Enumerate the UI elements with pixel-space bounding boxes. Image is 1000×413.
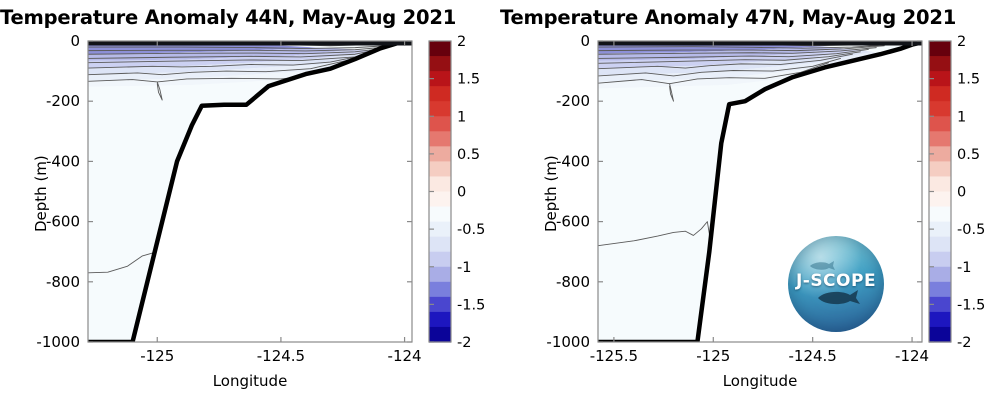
colorbar-swatch-11 [929, 207, 951, 223]
colorbar-swatch-11 [429, 207, 451, 223]
colorbar-swatch-3 [429, 86, 451, 102]
ytick-label: -800 [46, 273, 80, 291]
ytick-label: -600 [46, 213, 80, 231]
colorbar-swatch-8 [429, 161, 451, 177]
ytick-label: 0 [580, 32, 590, 50]
colorbar-swatch-19 [429, 327, 451, 343]
ytick-label: -200 [46, 92, 80, 110]
colorbar-swatch-15 [429, 267, 451, 283]
colorbar-swatch-18 [429, 312, 451, 328]
surface-band [88, 41, 412, 46]
ytick-label: 0 [70, 32, 80, 50]
colorbar-tick-label: 2 [957, 34, 966, 50]
colorbar-swatch-9 [929, 176, 951, 192]
panel-right-xlabel: Longitude [598, 372, 922, 390]
xtick-label: -124 [895, 347, 929, 365]
jscope-logo: J-SCOPE [788, 236, 884, 332]
colorbar-swatch-19 [929, 327, 951, 343]
colorbar-swatch-6 [929, 131, 951, 147]
ytick-label: -400 [46, 152, 80, 170]
colorbar-swatch-0 [429, 41, 451, 57]
colorbar-swatch-1 [429, 56, 451, 72]
colorbar-swatch-8 [929, 161, 951, 177]
colorbar-swatch-0 [929, 41, 951, 57]
fish-icon [788, 236, 884, 332]
xtick-label: -125 [696, 347, 730, 365]
xtick-label: -125 [140, 347, 174, 365]
colorbar-tick-label: -1.5 [457, 297, 485, 313]
colorbar-tick-label: -0.5 [457, 222, 485, 238]
panel-right: Temperature Anomaly 47N, May-Aug 2021 -1… [500, 0, 1000, 413]
colorbar-tick-label: 0.5 [457, 147, 480, 163]
colorbar-swatch-15 [929, 267, 951, 283]
xtick-label: -124 [388, 347, 422, 365]
panel-right-plot: -125.5-125-124.5-1240-200-400-600-800-10… [500, 0, 1000, 413]
colorbar-swatch-6 [429, 131, 451, 147]
colorbar-swatch-14 [929, 252, 951, 268]
colorbar-tick-label: 0 [457, 185, 466, 201]
xtick-label: -125.5 [590, 347, 638, 365]
colorbar-tick-label: -1.5 [957, 297, 985, 313]
xtick-label: -124.5 [257, 347, 305, 365]
ytick-label: -400 [556, 152, 590, 170]
colorbar-swatch-13 [429, 237, 451, 253]
panel-left-plot: -125-124.5-1240-200-400-600-800-100021.5… [0, 0, 500, 413]
colorbar-swatch-10 [429, 192, 451, 208]
colorbar-swatch-3 [929, 86, 951, 102]
panel-left-ylabel: Depth (m) [32, 155, 50, 232]
colorbar-tick-label: 0 [957, 185, 966, 201]
colorbar-tick-label: 1 [957, 109, 966, 125]
figure-container: Temperature Anomaly 44N, May-Aug 2021 -1… [0, 0, 1000, 413]
colorbar-swatch-5 [429, 116, 451, 132]
ytick-label: -200 [556, 92, 590, 110]
colorbar-tick-label: -2 [957, 335, 971, 351]
colorbar-swatch-5 [929, 116, 951, 132]
colorbar-swatch-9 [429, 176, 451, 192]
surface-band [598, 41, 922, 46]
colorbar-swatch-14 [429, 252, 451, 268]
colorbar-tick-label: 1 [457, 109, 466, 125]
colorbar-tick-label: -0.5 [957, 222, 985, 238]
colorbar-swatch-1 [929, 56, 951, 72]
panel-left: Temperature Anomaly 44N, May-Aug 2021 -1… [0, 0, 500, 413]
colorbar-tick-label: -2 [457, 335, 471, 351]
colorbar-tick-label: 1.5 [957, 72, 980, 88]
ytick-label: -600 [556, 213, 590, 231]
colorbar-swatch-18 [929, 312, 951, 328]
colorbar-swatch-16 [929, 282, 951, 298]
panel-right-ylabel: Depth (m) [542, 155, 560, 232]
colorbar-swatch-16 [429, 282, 451, 298]
colorbar-tick-label: 2 [457, 34, 466, 50]
colorbar-swatch-13 [929, 237, 951, 253]
ytick-label: -800 [556, 273, 590, 291]
colorbar-swatch-10 [929, 192, 951, 208]
colorbar-tick-label: 1.5 [457, 72, 480, 88]
colorbar-swatch-4 [929, 101, 951, 117]
ytick-label: -1000 [546, 333, 590, 351]
colorbar-tick-label: -1 [957, 260, 971, 276]
panel-left-xlabel: Longitude [88, 372, 412, 390]
colorbar-tick-label: -1 [457, 260, 471, 276]
xtick-label: -124.5 [788, 347, 836, 365]
ytick-label: -1000 [36, 333, 80, 351]
colorbar-tick-label: 0.5 [957, 147, 980, 163]
colorbar-swatch-4 [429, 101, 451, 117]
